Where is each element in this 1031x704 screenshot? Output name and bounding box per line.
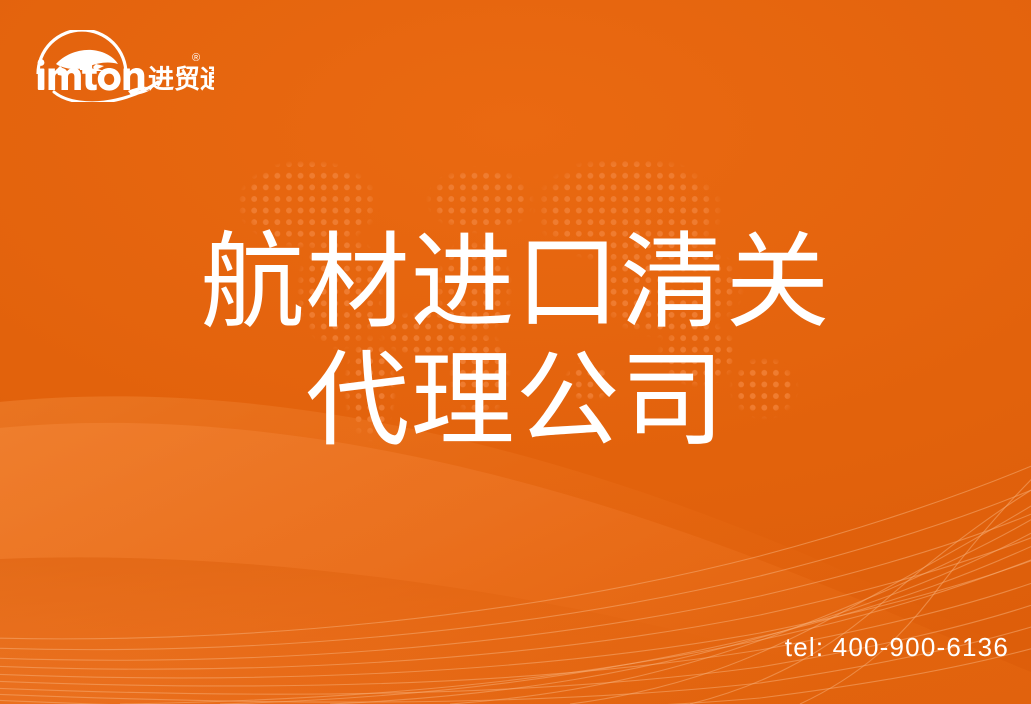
headline-line-2: 代理公司 [0, 342, 1031, 460]
headline: 航材进口清关 代理公司 [0, 224, 1031, 460]
logo-chinese-name: 进贸通 [148, 64, 214, 94]
wave-band-shadow [0, 557, 1031, 704]
brand-logo[interactable]: 进贸通 ® [34, 30, 214, 102]
headline-line-1: 航材进口清关 [0, 224, 1031, 342]
promo-banner: 进贸通 ® 航材进口清关 代理公司 tel: 400-900-6136 [0, 0, 1031, 704]
telephone-text: tel: 400-900-6136 [785, 632, 1009, 663]
registered-trademark-icon: ® [192, 52, 200, 64]
